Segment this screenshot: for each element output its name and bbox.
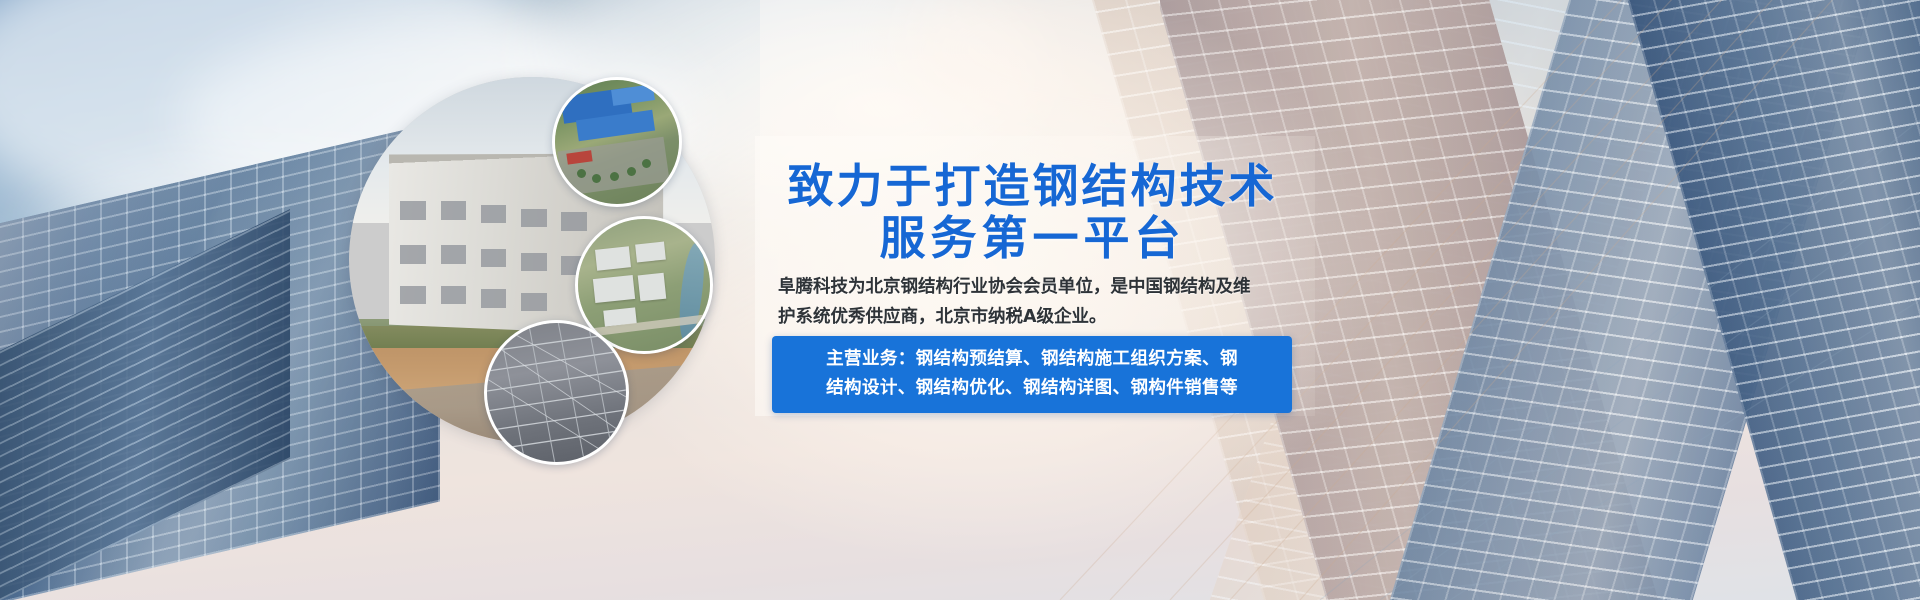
aerial-blue-roof-factory-photo xyxy=(552,77,682,207)
services-line-2: 结构设计、钢结构优化、钢结构详图、钢构件销售等 xyxy=(786,374,1278,403)
description-line-1: 阜腾科技为北京钢结构行业协会会员单位，是中国钢结构及维 xyxy=(778,272,1298,302)
headline-line-2: 服务第一平台 xyxy=(760,212,1305,264)
description-line-2: 护系统优秀供应商，北京市纳税A级企业。 xyxy=(778,302,1298,332)
services-line-1: 主营业务：钢结构预结算、钢结构施工组织方案、钢 xyxy=(786,345,1278,374)
services-highlight-box: 主营业务：钢结构预结算、钢结构施工组织方案、钢 结构设计、钢结构优化、钢结构详图… xyxy=(772,336,1292,413)
description-paragraph: 阜腾科技为北京钢结构行业协会会员单位，是中国钢结构及维 护系统优秀供应商，北京市… xyxy=(778,272,1298,332)
headline: 致力于打造钢结构技术 服务第一平台 xyxy=(760,160,1305,264)
hero-banner: 致力于打造钢结构技术 服务第一平台 阜腾科技为北京钢结构行业协会会员单位，是中国… xyxy=(0,0,1920,600)
steel-space-frame-truss-photo xyxy=(484,320,629,465)
headline-line-1: 致力于打造钢结构技术 xyxy=(760,160,1305,212)
